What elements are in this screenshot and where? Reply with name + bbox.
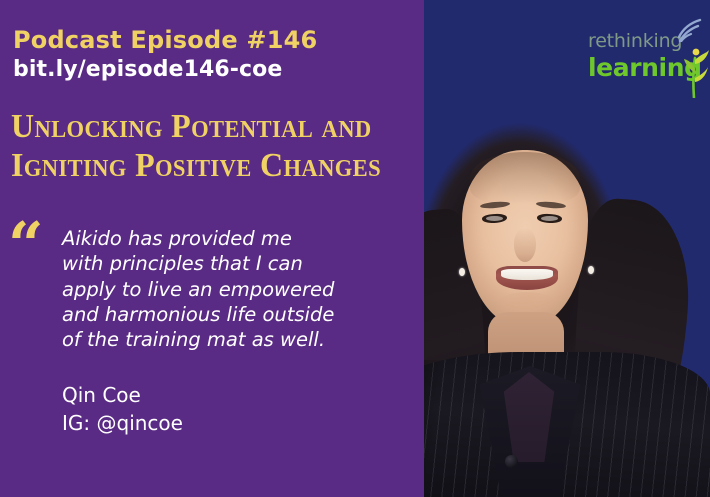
quote-line: and harmonious life outside [62,302,402,327]
guest-attribution: Qin Coe IG: @qincoe [62,381,183,438]
guest-quote: Aikido has provided me with principles t… [62,226,402,353]
text-content-area: Podcast Episode #146 bit.ly/episode146-c… [0,0,424,497]
eye-highlight-right [541,216,558,221]
quotation-mark-icon: “ [8,214,44,276]
forehead-shading [470,152,580,204]
episode-label: Podcast Episode #146 [13,26,317,54]
rethinking-learning-logo[interactable]: rethinking learning [588,10,706,102]
episode-url[interactable]: bit.ly/episode146-coe [13,57,282,82]
quote-line: apply to live an empowered [62,277,402,302]
quote-line: with principles that I can [62,251,402,276]
page-title: Unlocking Potential and Igniting Positiv… [11,107,387,186]
earring-right [588,266,594,274]
wifi-arcs-icon [676,16,706,42]
podcast-episode-graphic: Podcast Episode #146 bit.ly/episode146-c… [0,0,710,497]
quote-line: Aikido has provided me [62,226,402,251]
quote-line: of the training mat as well. [62,327,402,352]
teeth [501,269,553,280]
sprout-icon [684,40,710,98]
blazer-button [505,455,518,468]
earring-left [459,268,465,276]
guest-social-handle[interactable]: IG: @qincoe [62,409,183,437]
headline-line-1: Unlocking Potential and [11,107,387,146]
logo-word-rethinking: rethinking [588,30,682,52]
nose [514,228,536,262]
guest-name: Qin Coe [62,381,183,409]
headline-line-2: Igniting Positive Changes [11,146,387,185]
eye-highlight-left [486,216,503,221]
